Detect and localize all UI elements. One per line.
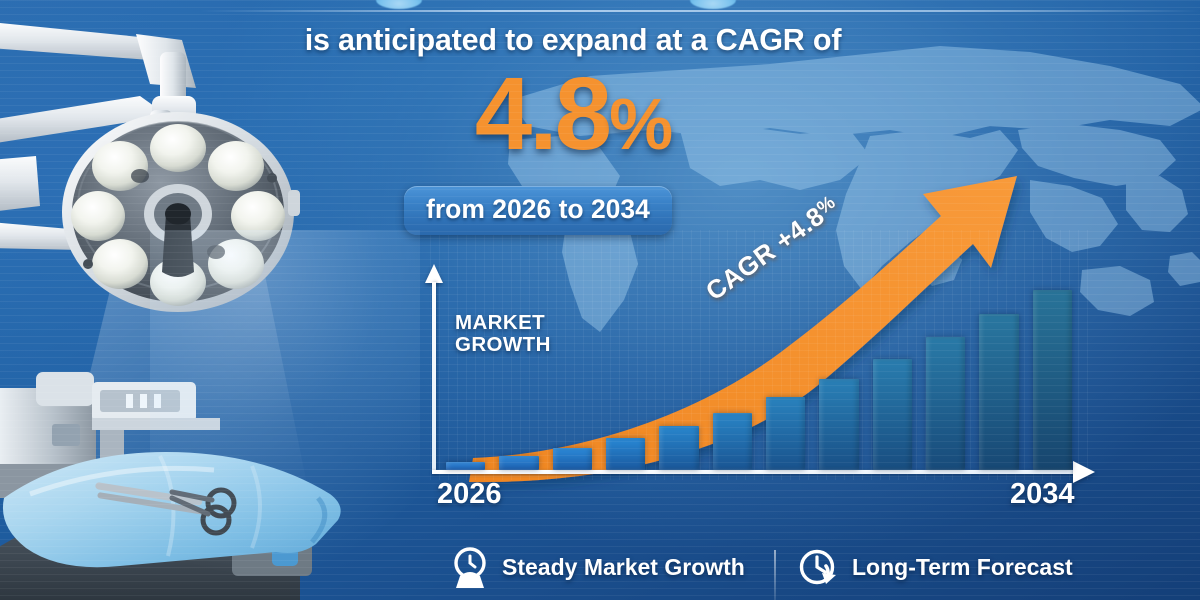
- x-axis: [432, 470, 1077, 474]
- bar: [1033, 290, 1072, 470]
- cagr-percent-sign: %: [609, 85, 671, 165]
- top-title-strip: [0, 0, 1200, 16]
- bar: [766, 397, 805, 470]
- bar-chart: MARKET GROWTH 2026 2034: [425, 282, 1115, 482]
- x-axis-start-label: 2026: [437, 478, 502, 511]
- footer-item-steady-market-growth[interactable]: Steady Market Growth: [448, 544, 745, 590]
- bar: [979, 314, 1018, 470]
- bar: [926, 337, 965, 470]
- infographic-canvas: MARKET GROWTH 2026 2034 CAGR +4.8% is an…: [0, 0, 1200, 600]
- footer-item-label: Steady Market Growth: [502, 554, 745, 581]
- bar-series: [439, 282, 1079, 470]
- operating-room-photo: [0, 0, 420, 600]
- bar: [713, 413, 752, 470]
- cagr-number: 4.8: [475, 56, 609, 171]
- footer-item-long-term-forecast[interactable]: Long-Term Forecast: [796, 544, 1073, 590]
- y-axis-arrow-icon: [425, 264, 443, 283]
- bar: [659, 426, 698, 470]
- bar: [553, 448, 592, 470]
- y-axis: [432, 282, 436, 474]
- magnifier-clock-icon: [448, 544, 492, 590]
- bar: [873, 359, 912, 470]
- footer-bar: Steady Market Growth Long-Term Forecast: [0, 540, 1200, 600]
- bar: [819, 379, 858, 470]
- bar: [446, 462, 485, 470]
- clock-arrow-icon: [796, 544, 842, 590]
- bar: [499, 456, 538, 470]
- bar: [606, 438, 645, 470]
- title-glyph-left: [376, 0, 422, 9]
- footer-divider: [774, 550, 776, 600]
- x-axis-end-label: 2034: [1010, 478, 1075, 511]
- period-badge: from 2026 to 2034: [404, 186, 672, 235]
- title-underline: [200, 10, 1200, 12]
- footer-item-label: Long-Term Forecast: [852, 554, 1073, 581]
- title-glyph-right: [690, 0, 736, 9]
